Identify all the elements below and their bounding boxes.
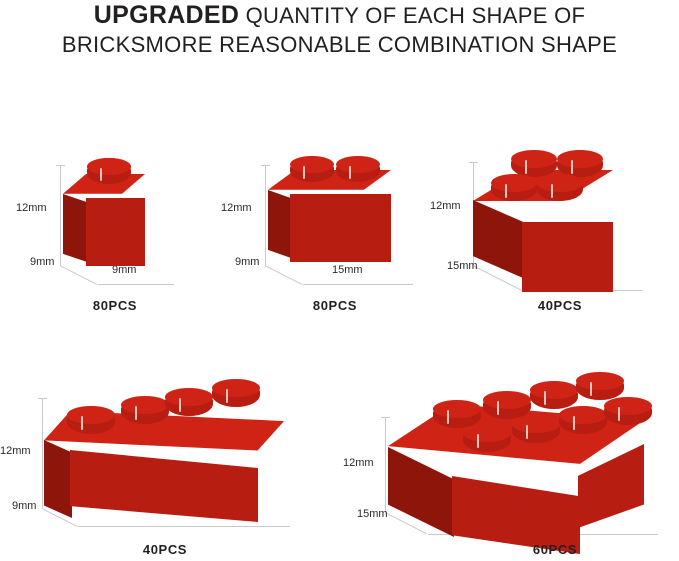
quantity-label: 80PCS: [290, 298, 380, 313]
brick-stud: [165, 388, 213, 416]
quantity-label: 40PCS: [120, 542, 210, 557]
brick-stud: [87, 158, 131, 184]
dim-label-height: 12mm: [343, 457, 374, 469]
dim-label-height: 12mm: [430, 200, 461, 212]
dim-label-depth: 15mm: [357, 508, 388, 520]
quantity-label: 40PCS: [515, 298, 605, 313]
quantity-label: 60PCS: [510, 542, 600, 557]
brick-stud: [463, 424, 511, 452]
brick-figure-2x1: 12mm 9mm 15mm 80PCS: [210, 140, 440, 320]
brick-stud: [559, 406, 607, 434]
brick-front-face: [290, 194, 391, 262]
dim-line-height: [265, 165, 266, 265]
quantity-label: 80PCS: [70, 298, 160, 313]
brick-body: [44, 378, 294, 528]
brick-stud: [604, 397, 652, 425]
dim-label-depth: 9mm: [235, 256, 259, 268]
title-emphasis: UPGRADED: [94, 1, 239, 29]
brick-stud: [576, 372, 624, 400]
brick-front-face: [86, 198, 145, 266]
dim-line-width: [303, 284, 413, 285]
brick-body: [268, 152, 418, 272]
brick-figure-4x1: 12mm 9mm 33mm 40PCS: [0, 370, 320, 560]
brick-stud: [67, 406, 115, 434]
page-title: UPGRADED QUANTITY OF EACH SHAPE OF BRICK…: [0, 2, 679, 58]
dim-label-depth: 9mm: [12, 500, 36, 512]
brick-stud: [290, 156, 334, 182]
brick-figure-1x1: 12mm 9mm 9mm 80PCS: [0, 140, 215, 320]
brick-figure-2x2: 12mm 15mm 15mm 40PCS: [425, 140, 675, 320]
dim-line-height: [42, 398, 43, 508]
brick-stud: [511, 150, 557, 177]
brick-body: [473, 148, 633, 278]
dim-line-width: [98, 284, 174, 285]
brick-left-face: [473, 200, 523, 278]
dim-label-height: 12mm: [16, 202, 47, 214]
brick-stud: [537, 174, 583, 201]
brick-body: [63, 156, 163, 271]
title-line2: BRICKSMORE REASONABLE COMBINATION SHAPE: [0, 32, 679, 58]
brick-stud: [121, 396, 169, 424]
dim-line-height: [385, 417, 386, 512]
brick-stud: [512, 415, 560, 443]
brick-stud: [557, 150, 603, 177]
dim-label-depth: 9mm: [30, 256, 54, 268]
brick-left-face: [63, 194, 87, 262]
brick-stud: [491, 174, 537, 201]
brick-body: [388, 372, 678, 542]
brick-stud: [336, 156, 380, 182]
dim-line-height: [60, 165, 61, 265]
brick-front-face: [70, 450, 258, 522]
dim-label-height: 12mm: [0, 445, 31, 457]
title-line1-rest: QUANTITY OF EACH SHAPE OF: [239, 3, 585, 28]
brick-front-face: [522, 222, 613, 292]
brick-left-face: [388, 447, 454, 537]
brick-left-face: [44, 440, 72, 518]
brick-stud: [530, 381, 578, 409]
brick-left-face: [268, 190, 291, 258]
brick-stud: [212, 379, 260, 407]
dim-label-height: 12mm: [221, 202, 252, 214]
brick-figure-4x2: 12mm 15mm 33mm: [330, 362, 679, 561]
